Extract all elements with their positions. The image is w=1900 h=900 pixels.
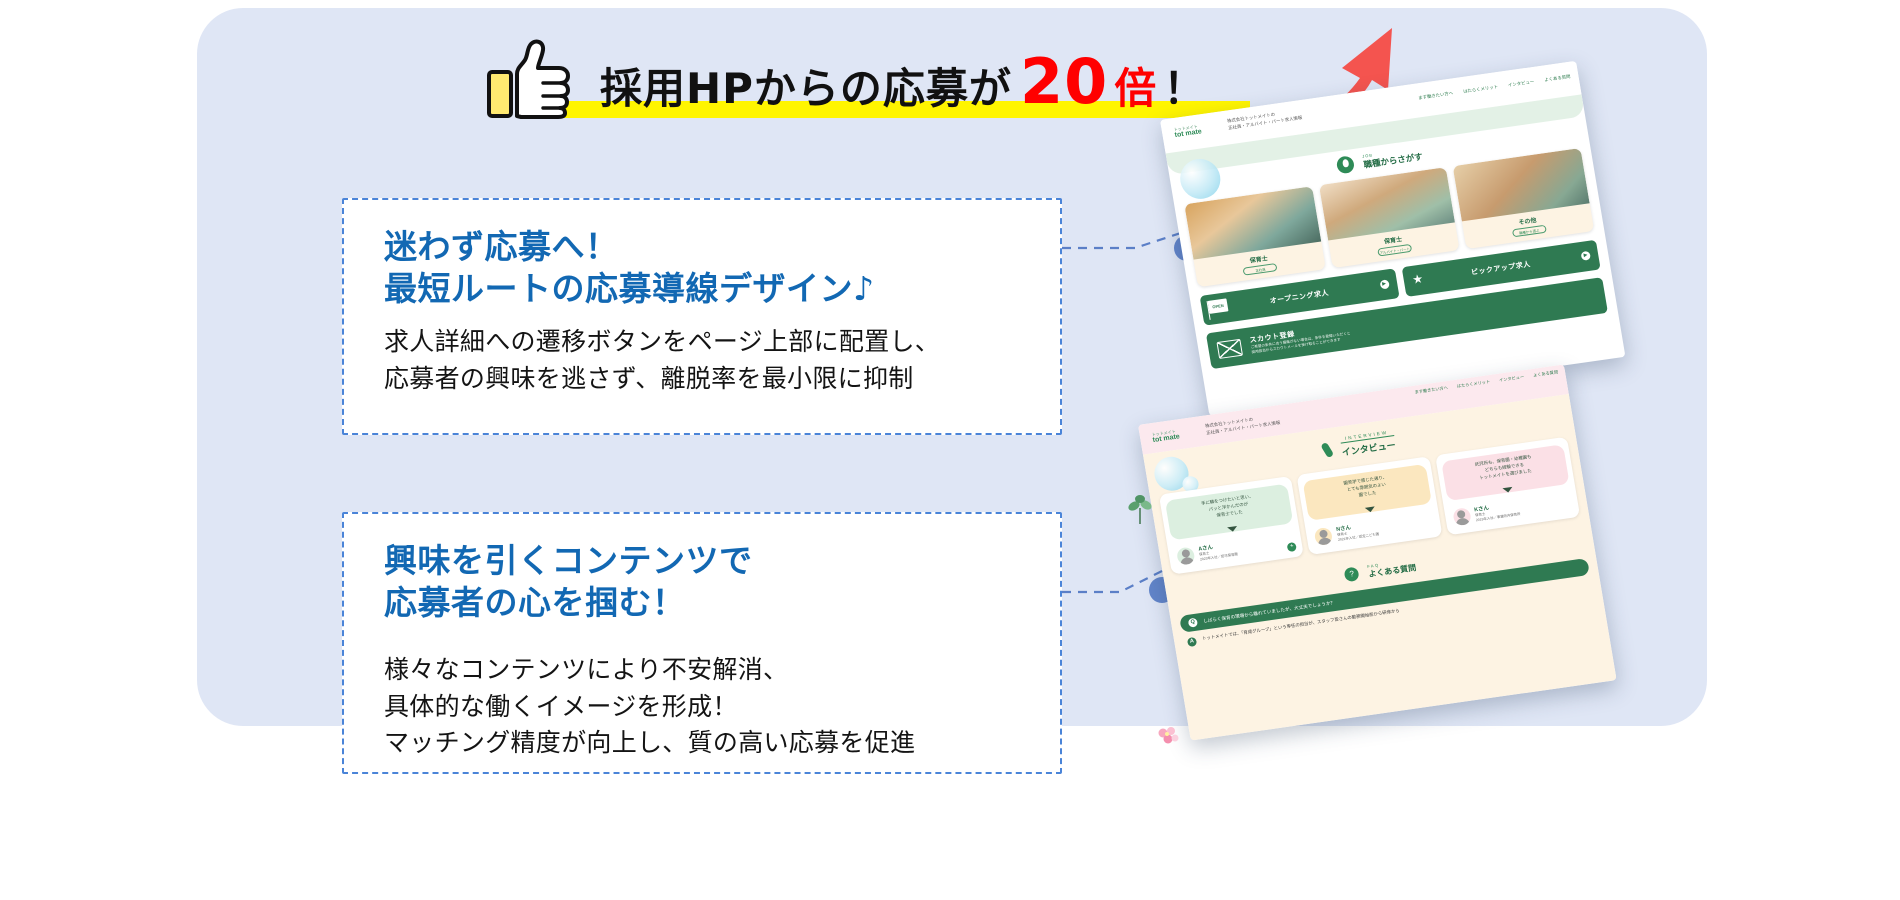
nav-item-3[interactable]: よくある質問 (1544, 74, 1571, 83)
interview-card[interactable]: 手に職をつけたいと思い、 パッと浮かんだのが 保育士でした Aさん 保育士 20… (1159, 476, 1304, 575)
interview-card[interactable]: 託児所も、保育園・幼稚園も どちらも経験できる トットメイトを選びました Kさん… (1435, 437, 1580, 536)
headline-exclamation: ！ (1163, 55, 1206, 116)
nav-item-2[interactable]: インタビュー (1508, 79, 1535, 88)
nav-item-1[interactable]: はたらくメリット (1457, 379, 1491, 389)
feature-box-2: 興味を引くコンテンツで 応募者の心を掴む！ 様々なコンテンツにより不安解消、 具… (342, 512, 1062, 774)
infographic-root: 採用HPからの応募が 20 倍 ！ 迷わず応募へ！ 最短ルートの応募導線デザイン… (0, 0, 1900, 900)
headline-prefix: 採用HPからの応募が (600, 55, 1012, 116)
star-icon: ★ (1411, 273, 1424, 286)
envelope-icon (1216, 338, 1243, 358)
nav-item-0[interactable]: まず働きたい方へ (1414, 385, 1448, 395)
nav-item-3[interactable]: よくある質問 (1533, 369, 1559, 377)
avatar (1314, 526, 1334, 545)
nav-item-2[interactable]: インタビュー (1499, 374, 1525, 382)
microphone-icon (1320, 441, 1334, 457)
question-icon: ? (1344, 566, 1360, 582)
interview-quote: 手に職をつけたいと思い、 パッと浮かんだのが 保育士でした (1165, 484, 1294, 541)
avatar (1452, 507, 1472, 526)
feature-box-1-heading: 迷わず応募へ！ 最短ルートの応募導線デザイン♪ (384, 226, 1060, 310)
chevron-right-icon: ▶ (1379, 279, 1389, 289)
flag-icon: OPEN (1208, 298, 1229, 313)
company-description: 株式会社トットメイトの 正社員・アルバイト・パート求人情報 (1205, 413, 1281, 437)
site-logo[interactable]: トットメイト tot mate (1152, 429, 1181, 444)
job-card[interactable]: その他 職種から選ぶ (1453, 148, 1594, 249)
leaf-decoration-icon (1127, 494, 1153, 524)
job-card[interactable]: 保育士 アルバイト・パート (1319, 167, 1460, 268)
interview-quote: 園見学で感じた通り、 とても雰囲気のよい 園でした (1303, 464, 1432, 521)
interview-card[interactable]: 園見学で感じた通り、 とても雰囲気のよい 園でした Nさん 保育士 2021年入… (1297, 456, 1442, 555)
pickup-jobs-label: ピックアップ求人 (1470, 259, 1531, 277)
faq-answer-badge: A (1187, 637, 1197, 647)
thumbs-up-icon (487, 38, 571, 120)
flower-decoration-icon (1155, 724, 1181, 748)
website-mockup-jobs-page[interactable]: トットメイト tot mate 株式会社トットメイトの 正社員・アルバイト・パー… (1160, 61, 1625, 416)
opening-jobs-label: オープニング求人 (1269, 288, 1330, 306)
feature-box-2-body: 様々なコンテンツにより不安解消、 具体的な働くイメージを形成！ マッチング精度が… (384, 652, 1060, 761)
headline-number: 20 (1020, 54, 1108, 110)
website-mockup-interview-page[interactable]: トットメイト tot mate 株式会社トットメイトの 正社員・アルバイト・パー… (1138, 364, 1617, 740)
interview-section: INTERVIEW インタビュー 手に職をつけたいと思い、 パッと浮かんだのが … (1143, 394, 1617, 741)
feature-box-2-heading: 興味を引くコンテンツで 応募者の心を掴む！ (384, 540, 1060, 624)
headline-unit: 倍 (1114, 55, 1157, 116)
company-description: 株式会社トットメイトの 正社員・アルバイト・パート求人情報 (1227, 108, 1303, 132)
person-search-icon (1336, 155, 1356, 174)
nav-item-0[interactable]: まず働きたい方へ (1418, 90, 1454, 100)
feature-box-1-body: 求人詳細への遷移ボタンをページ上部に配置し、 応募者の興味を逃さず、離脱率を最小… (384, 324, 1060, 397)
interview-quote: 託児所も、保育園・幼稚園も どちらも経験できる トットメイトを選びました (1441, 444, 1570, 501)
job-card[interactable]: 保育士 正社員 (1184, 186, 1325, 287)
nav-item-1[interactable]: はたらくメリット (1463, 84, 1499, 94)
site-logo[interactable]: トットメイト tot mate (1174, 124, 1203, 139)
feature-box-1: 迷わず応募へ！ 最短ルートの応募導線デザイン♪ 求人詳細への遷移ボタンをページ上… (342, 198, 1062, 435)
avatar (1176, 546, 1196, 565)
chevron-right-icon: ▶ (1581, 251, 1591, 261)
faq-question-badge: Q (1188, 618, 1198, 628)
headline: 採用HPからの応募が 20 倍 ！ (600, 54, 1206, 116)
